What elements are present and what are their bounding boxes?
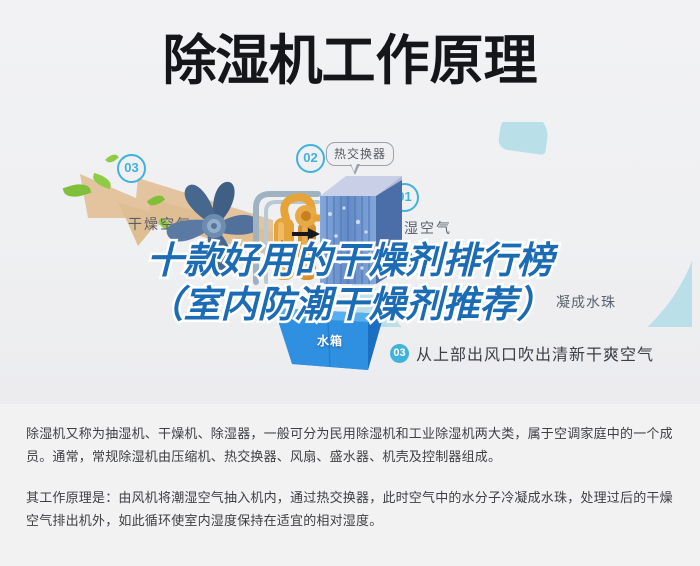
step-badge-03: 03 [117,154,146,183]
page-title-part-b: 工作原理 [322,31,538,91]
step-caption-badge-icon: 03 [390,344,409,363]
page-title: 除湿机工作原理 [0,28,700,94]
humid-air-arc-tail [497,122,550,155]
page-title-part-a: 除湿机 [163,31,322,91]
body-paragraph-1: 除湿机又称为抽湿机、干燥机、除湿器，一般可分为民用除湿机和工业除湿机两大类，属于… [26,422,674,468]
article-body: 除湿机又称为抽湿机、干燥机、除湿器，一般可分为民用除湿机和工业除湿机两大类，属于… [0,404,700,566]
step-badge-02: 02 [296,144,325,173]
overlay-title-line-2: （室内防潮干燥剂推荐） [0,283,700,327]
overlay-title-line-1: 十款好用的干燥剂排行榜 [0,239,700,283]
water-tank-label: 水箱 [317,332,343,349]
infographic-page: 除湿机工作原理 干燥空气 潮湿空气 03 02 01 热交换器 [0,0,700,566]
step-caption-text: 从上部出风口吹出清新干爽空气 [416,341,654,365]
heat-exchanger-callout: 热交换器 [326,142,394,166]
diagram-panel: 除湿机工作原理 干燥空气 潮湿空气 03 02 01 热交换器 [0,0,700,404]
step-caption-03: 03 从上部出风口吹出清新干爽空气 [390,341,654,365]
body-paragraph-2: 其工作原理是：由风机将潮湿空气抽入机内，通过热交换器，此时空气中的水分子冷凝成水… [26,486,674,532]
overlay-watermark-title: 十款好用的干燥剂排行榜 （室内防潮干燥剂推荐） [0,239,700,327]
